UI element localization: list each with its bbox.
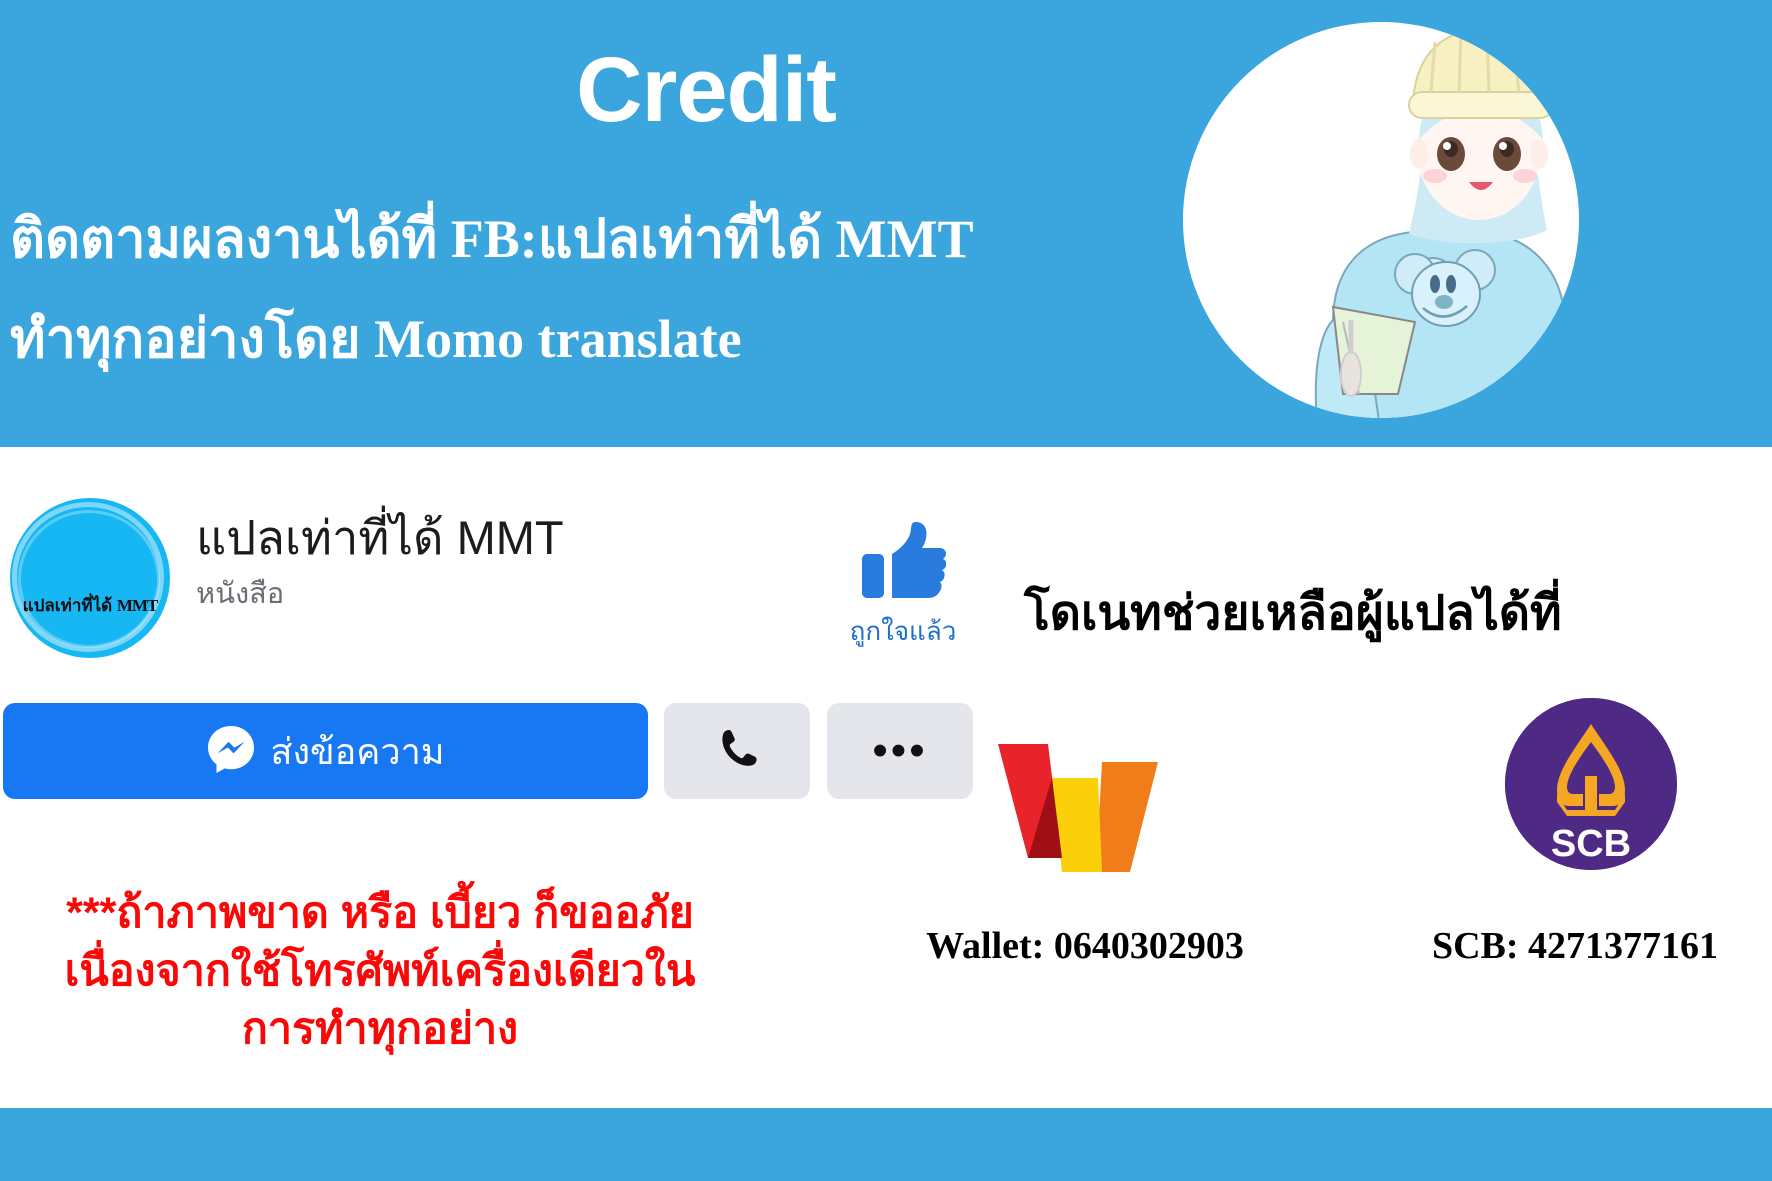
disclaimer-line-1: ***ถ้าภาพขาด หรือ เบี้ยว ก็ขออภัย [0,884,760,942]
scb-bank-icon: SCB [1505,698,1677,870]
messenger-icon [206,724,256,779]
wallet-account-caption: Wallet: 0640302903 [845,924,1325,968]
donate-headline: โดเนทช่วยเหลือผู้แปลได้ที่ [1024,575,1562,651]
like-label: ถูกใจแล้ว [843,611,963,652]
ellipsis-icon: ••• [872,742,927,760]
logo-text: แปลเท่าที่ได้ MMT [10,592,170,619]
logo-text-thai: แปลเท่าที่ได้ [23,596,113,615]
send-message-button[interactable]: ส่งข้อความ [3,703,648,799]
page-name: แปลเท่าที่ได้ MMT [196,500,564,575]
truemoney-wallet-icon [990,740,1170,875]
call-button[interactable] [664,703,810,799]
phone-icon [714,726,760,777]
page-category: หนังสือ [196,570,284,616]
header-credit-line: ทำทุกอย่างโดย Momo translate [10,295,742,381]
disclaimer-line-2: เนื่องจากใช้โทรศัพท์เครื่องเดียวใน [0,942,760,1000]
like-status[interactable]: ถูกใจแล้ว [843,520,963,652]
page-title: Credit [0,42,1412,139]
thumbs-up-icon [843,520,963,605]
disclaimer-line-3: การทำทุกอย่าง [0,1000,760,1058]
more-options-button[interactable]: ••• [827,703,973,799]
send-message-label: ส่งข้อความ [270,723,444,780]
scb-account-caption: SCB: 4271377161 [1360,924,1772,968]
header-follow-line: ติดตามผลงานได้ที่ FB:แปลเท่าที่ได้ MMT [10,195,974,281]
page-profile-logo: แปลเท่าที่ได้ MMT [10,498,170,658]
anime-girl-avatar [1183,22,1579,418]
logo-ring-inner [18,510,160,648]
footer-bar [0,1108,1772,1181]
disclaimer-note: ***ถ้าภาพขาด หรือ เบี้ยว ก็ขออภัย เนื่อง… [0,884,760,1058]
logo-text-latin: MMT [117,596,157,615]
credit-header-banner: Credit ติดตามผลงานได้ที่ FB:แปลเท่าที่ได… [0,0,1772,447]
svg-text:SCB: SCB [1551,823,1631,865]
